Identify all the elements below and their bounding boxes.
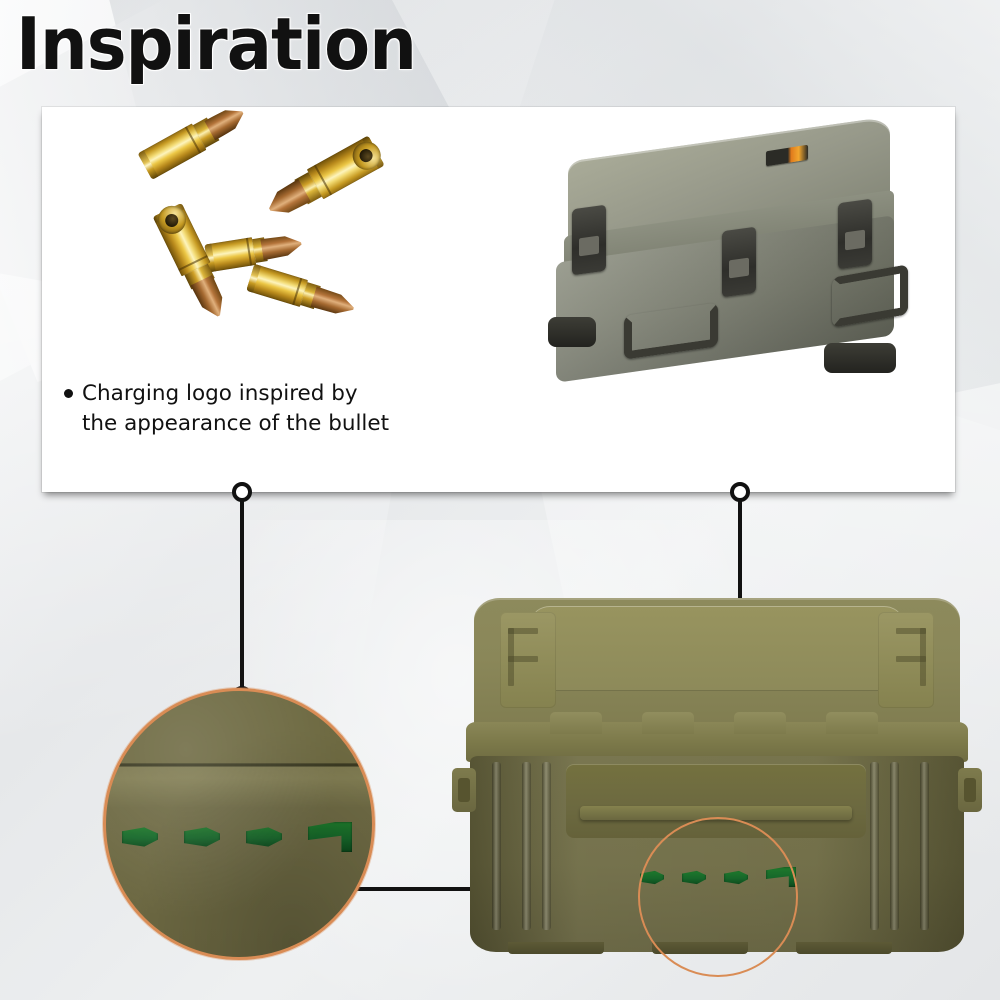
case-wheel-left bbox=[548, 317, 596, 347]
bigcase-corner-left bbox=[500, 612, 556, 708]
led-indicator-4 bbox=[308, 822, 352, 852]
bigcase-corner-right bbox=[878, 612, 934, 708]
bullet-2 bbox=[261, 136, 384, 225]
bigcase-lid-tab bbox=[550, 712, 602, 734]
bigcase-side-latch-left[interactable] bbox=[452, 768, 476, 812]
bullet-5 bbox=[246, 264, 357, 322]
bullet-1 bbox=[138, 100, 249, 180]
led-indicator-4 bbox=[766, 867, 796, 887]
zoom-detail-circle bbox=[103, 688, 375, 960]
bigcase-led-strip bbox=[640, 870, 800, 894]
bigcase-lid-tab bbox=[826, 712, 878, 734]
bigcase-foot bbox=[652, 942, 748, 954]
note-left-text: Charging logo inspired by the appearance… bbox=[82, 379, 389, 438]
callout-node bbox=[232, 482, 252, 502]
charging-box bbox=[452, 598, 982, 970]
bigcase-rib bbox=[522, 762, 531, 930]
callout-bullets-to-magnifier bbox=[230, 482, 254, 706]
bigcase-foot bbox=[796, 942, 892, 954]
led-indicator-1 bbox=[640, 870, 664, 885]
magnified-led-strip bbox=[122, 826, 362, 860]
bigcase-side-latch-right[interactable] bbox=[958, 768, 982, 812]
bigcase-body bbox=[470, 756, 964, 952]
led-indicator-2 bbox=[682, 870, 706, 885]
bigcase-handle[interactable] bbox=[580, 806, 852, 820]
callout-node bbox=[730, 482, 750, 502]
led-indicator-2 bbox=[184, 826, 220, 848]
weapon-case-photo bbox=[542, 121, 922, 421]
inspiration-panel: Charging logo inspired by the appearance… bbox=[42, 107, 955, 492]
case-wheel-right bbox=[824, 343, 896, 373]
case-latch-center bbox=[722, 227, 756, 298]
case-latch-left bbox=[572, 205, 606, 276]
bigcase-lid-tab bbox=[642, 712, 694, 734]
bullets-illustration bbox=[142, 119, 412, 371]
bigcase-rib bbox=[890, 762, 899, 930]
led-indicator-3 bbox=[246, 826, 282, 848]
led-indicator-1 bbox=[122, 826, 158, 848]
case-latch-right bbox=[838, 199, 872, 270]
note-left: Charging logo inspired by the appearance… bbox=[64, 379, 389, 438]
bigcase-handle-recess bbox=[566, 764, 866, 838]
panel-column-left: Charging logo inspired by the appearance… bbox=[42, 107, 512, 492]
bigcase-rib bbox=[920, 762, 929, 930]
bigcase-foot bbox=[508, 942, 604, 954]
bigcase-rib bbox=[492, 762, 501, 930]
slide-canvas: Inspiration bbox=[0, 0, 1000, 1000]
page-title: Inspiration bbox=[16, 8, 416, 80]
led-indicator-3 bbox=[724, 870, 748, 885]
bigcase-rib bbox=[870, 762, 879, 930]
bigcase-lid-top-face bbox=[532, 606, 902, 690]
panel-column-right: The charging box is cool like a weapon b… bbox=[512, 107, 955, 492]
bullet-point-icon bbox=[64, 389, 73, 398]
bigcase-lid-tab bbox=[734, 712, 786, 734]
bigcase-rib bbox=[542, 762, 551, 930]
